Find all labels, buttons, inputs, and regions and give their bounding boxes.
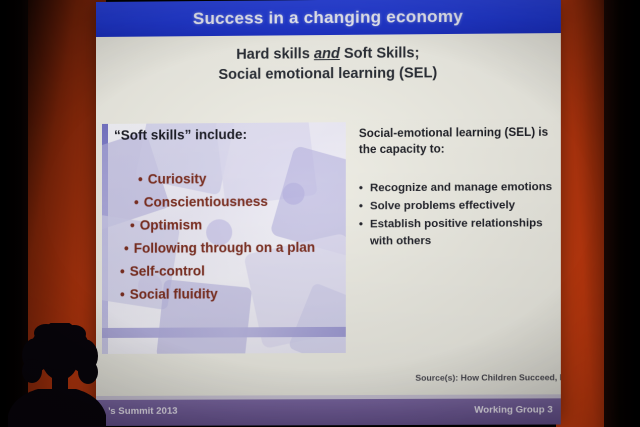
- source-attribution: Source(s): How Children Succeed, Paul To…: [415, 372, 561, 383]
- list-item: •Following through on a plan: [124, 236, 315, 260]
- list-item-label: Following through on a plan: [134, 240, 315, 256]
- subtitle-line-2: Social emotional learning (SEL): [96, 62, 561, 86]
- subtitle-emphasis: and: [314, 46, 340, 62]
- sel-heading-line-1: Social-emotional learning (SEL) is: [359, 125, 557, 143]
- list-item: •Social fluidity: [120, 282, 315, 306]
- bullet-icon: •: [359, 216, 363, 233]
- soft-skills-heading: “Soft skills” include:: [114, 127, 247, 143]
- list-item-label: Curiosity: [148, 171, 207, 186]
- list-item-label: Conscientiousness: [144, 194, 268, 210]
- bullet-icon: •: [124, 241, 129, 256]
- bullet-icon: •: [134, 195, 139, 210]
- soft-skills-panel: “Soft skills” include: •Curiosity •Consc…: [102, 122, 346, 354]
- bullet-icon: •: [359, 180, 363, 197]
- panel-bottom-band: [102, 327, 346, 338]
- sel-heading: Social-emotional learning (SEL) is the c…: [359, 125, 557, 159]
- list-item-label: Solve problems effectively: [370, 199, 515, 212]
- list-item: • Solve problems effectively: [359, 197, 557, 215]
- bullet-icon: •: [138, 172, 143, 187]
- projected-slide: Success in a changing economy Hard skill…: [96, 0, 561, 426]
- sel-list: • Recognize and manage emotions • Solve …: [359, 179, 557, 251]
- slide-title-bar: Success in a changing economy: [96, 0, 561, 37]
- sel-heading-line-2: the capacity to:: [359, 141, 557, 158]
- list-item-label: Recognize and manage emotions: [370, 181, 552, 194]
- slide-title: Success in a changing economy: [193, 6, 463, 28]
- soft-skills-list: •Curiosity •Conscientiousness •Optimism …: [120, 167, 315, 306]
- list-item: •Curiosity: [138, 167, 315, 191]
- conference-photo: Success in a changing economy Hard skill…: [0, 0, 640, 427]
- speaker-silhouette-icon: [4, 323, 136, 427]
- bullet-icon: •: [120, 264, 125, 279]
- subtitle-suffix: Soft Skills;: [340, 45, 420, 62]
- list-item: • Establish positive relationships with …: [359, 215, 557, 250]
- footer-working-group-label: Working Group 3: [474, 404, 553, 415]
- slide-footer-bar: ’s Summit 2013 Working Group 3: [96, 398, 561, 426]
- list-item-label: Self-control: [130, 263, 205, 278]
- list-item: •Optimism: [130, 213, 315, 237]
- list-item-continuation: with others: [370, 232, 557, 250]
- list-item: •Self-control: [120, 259, 315, 283]
- subtitle-prefix: Hard skills: [236, 46, 314, 63]
- bullet-icon: •: [359, 198, 363, 215]
- list-item-label: Establish positive relationships: [370, 217, 543, 230]
- list-item: • Recognize and manage emotions: [359, 179, 557, 197]
- wall-right-black: [604, 0, 640, 427]
- bullet-icon: •: [130, 218, 135, 233]
- list-item: •Conscientiousness: [134, 190, 315, 214]
- bullet-icon: •: [120, 287, 125, 302]
- list-item-label: Optimism: [140, 217, 202, 232]
- slide-subtitle: Hard skills and Soft Skills; Social emot…: [96, 42, 561, 86]
- sel-panel: Social-emotional learning (SEL) is the c…: [359, 125, 557, 252]
- list-item-label: Social fluidity: [130, 286, 218, 301]
